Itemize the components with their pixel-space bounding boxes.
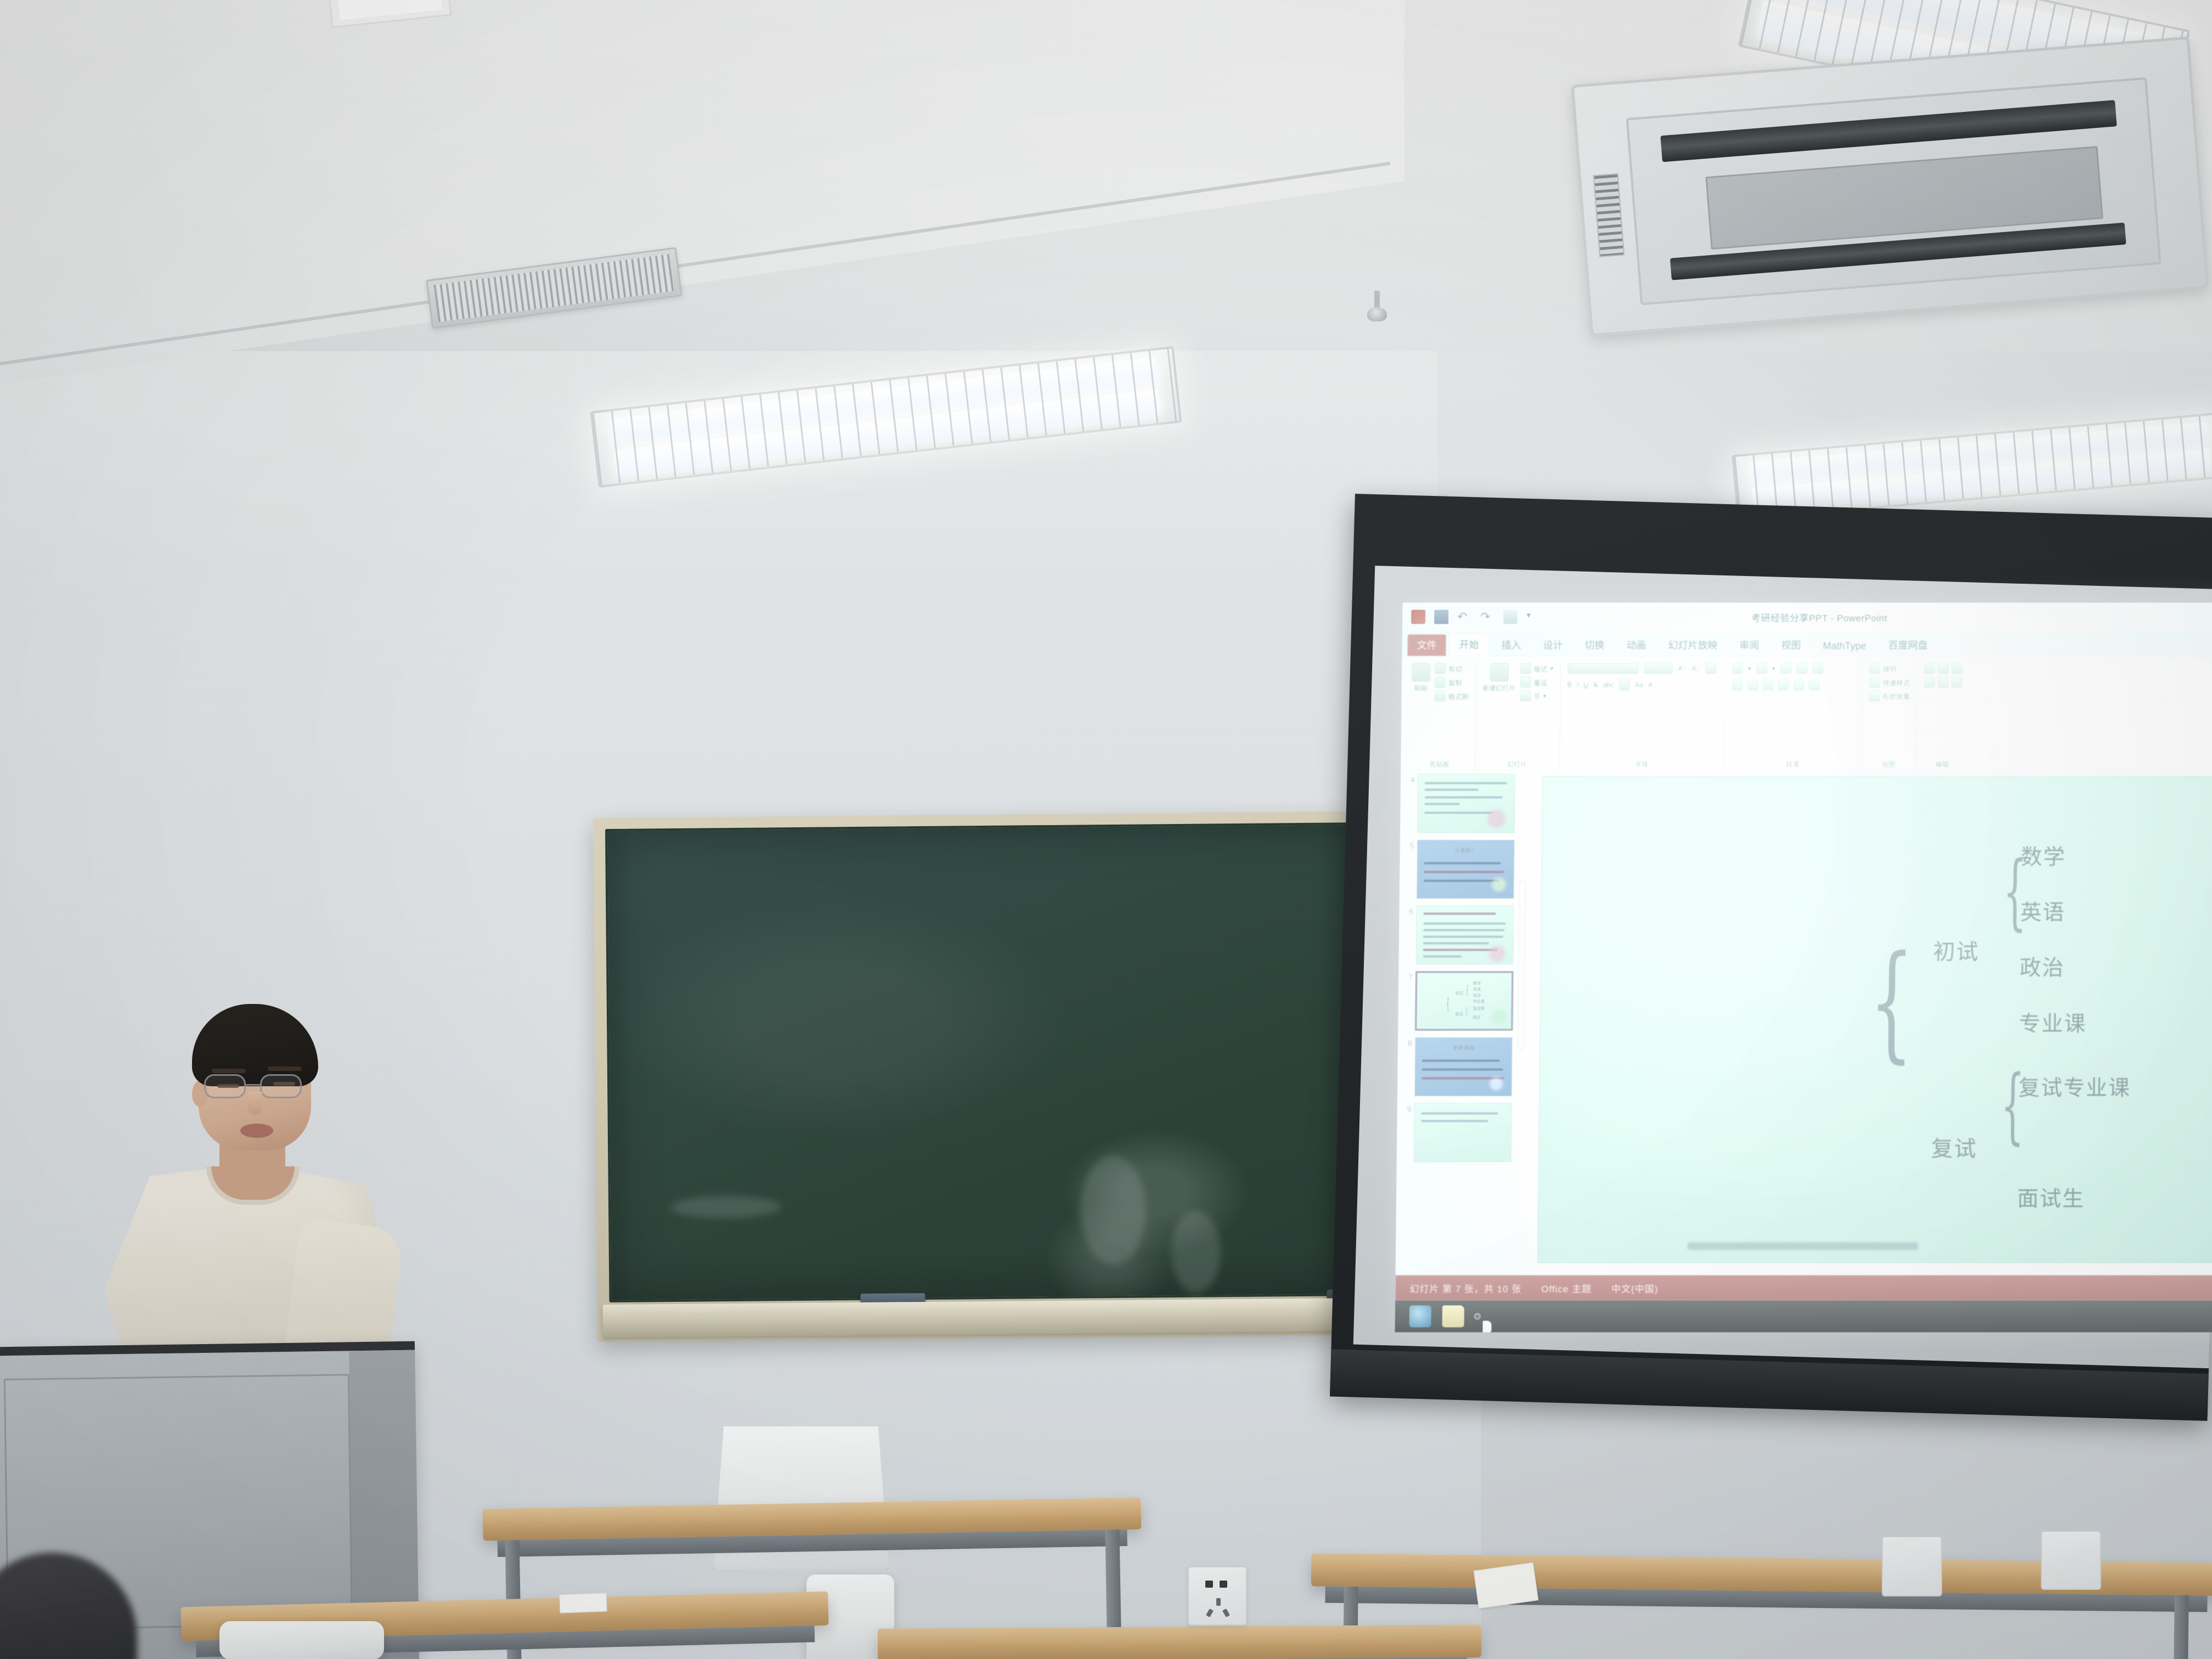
slide-editing-pane[interactable]: { 初试 { 数学 英语 政治 专业课 复试 { 复试专业课: [1522, 770, 2212, 1286]
shape-gallery-row[interactable]: [1924, 663, 1962, 674]
ribbon-tab-strip[interactable]: 文件 开始 插入 设计 切换 动画 幻灯片放映 审阅 视图 MathType 百…: [1402, 631, 2212, 656]
thumbnail-row[interactable]: 6: [1402, 905, 1525, 964]
scissors-icon: [1435, 663, 1446, 674]
thumbnail-row[interactable]: 4: [1403, 774, 1526, 833]
tab-review[interactable]: 审阅: [1730, 634, 1769, 656]
slide-thumbnail[interactable]: 大家好！: [1417, 839, 1515, 899]
branch-label-primary: 初试: [1933, 934, 1979, 966]
decrease-font-size-icon[interactable]: A↓: [1691, 664, 1700, 672]
ribbon-group-font: A↑ A↓ B I U S abc Aa A: [1560, 661, 1725, 770]
reset-icon: [1520, 676, 1531, 687]
slide-thumbnail-panel[interactable]: 4 5 大家好！: [1395, 770, 1528, 1286]
language-label: 中文(中国): [1611, 1281, 1658, 1295]
increase-indent-icon[interactable]: [1796, 663, 1807, 674]
slide-indicator: 幻灯片 第 7 张，共 10 张: [1409, 1281, 1521, 1295]
thumbnail-number: 5: [1403, 839, 1414, 850]
thumbnail-number: 8: [1401, 1037, 1412, 1047]
thumbnail-title: 考研流程: [1415, 1044, 1512, 1051]
paste-icon: [1412, 663, 1430, 681]
tab-design[interactable]: 设计: [1533, 634, 1572, 656]
arrow-shape-icon[interactable]: [1924, 676, 1935, 687]
leaf-interview: 面试生: [2017, 1182, 2085, 1213]
chalk-smudge: [1080, 1155, 1147, 1265]
ribbon-group-editing: 编辑: [1916, 661, 1969, 770]
outlet-pin: [1216, 1598, 1221, 1606]
group-label-paragraph: 段落: [1724, 759, 1861, 769]
chalk-smudge: [671, 1195, 781, 1218]
presenter-eyebrow: [212, 1069, 246, 1073]
star-shape-icon[interactable]: [1938, 676, 1949, 687]
section-icon: [1520, 690, 1531, 701]
slide-canvas[interactable]: { 初试 { 数学 英语 政治 专业课 复试 { 复试专业课: [1537, 776, 2212, 1263]
presenter-eyebrow: [268, 1066, 302, 1071]
slide-thumbnail[interactable]: 考研流程: [1414, 1037, 1513, 1096]
student-desk: [878, 1624, 1481, 1659]
font-color-button[interactable]: A: [1648, 681, 1652, 689]
triangle-shape-icon[interactable]: [1938, 663, 1949, 674]
tab-view[interactable]: 视图: [1772, 634, 1810, 656]
columns-icon[interactable]: [1793, 679, 1804, 690]
thumbnail-row[interactable]: 5 大家好！: [1403, 839, 1525, 899]
ribbon-group-paragraph: ▾ ▾: [1724, 661, 1863, 770]
leaf-politics: 政治: [2019, 951, 2065, 982]
leaf-english: 英语: [2020, 895, 2066, 926]
projected-powerpoint-window[interactable]: ↶ ↷ ▾ 考研经验分享PPT - PowerPoint 文件 开始 插入 设计…: [1395, 602, 2212, 1332]
shape-effects-icon: [1869, 690, 1880, 701]
new-slide-icon: [1490, 663, 1509, 681]
cut-button[interactable]: 剪切: [1435, 663, 1469, 674]
text-shadow-button[interactable]: abc: [1603, 681, 1614, 689]
font-size-combo[interactable]: [1644, 663, 1673, 674]
ribbon[interactable]: 粘贴 剪切 复制 格式刷 剪贴板 新建幻灯片: [1401, 656, 2212, 770]
shape-gallery-row[interactable]: [1924, 676, 1962, 687]
presenter-mouth: [240, 1124, 273, 1138]
wall-power-outlet[interactable]: [1882, 1536, 1942, 1596]
group-label-clipboard: 剪贴板: [1404, 759, 1475, 769]
glasses-lens: [260, 1074, 302, 1098]
sprinkler-nozzle: [1367, 307, 1387, 321]
new-slide-label: 新建幻灯片: [1482, 683, 1515, 692]
wall-power-outlet[interactable]: [1188, 1566, 1247, 1626]
group-label-drawing: 绘图: [1861, 759, 1916, 769]
justify-icon[interactable]: [1778, 679, 1788, 690]
tab-insert[interactable]: 插入: [1492, 634, 1530, 656]
desk-leg: [2173, 1595, 2189, 1659]
format-painter-button[interactable]: 格式刷: [1435, 690, 1469, 701]
glasses-lens: [204, 1074, 246, 1098]
ribbon-group-clipboard: 粘贴 剪切 复制 格式刷 剪贴板: [1404, 661, 1476, 770]
underline-button[interactable]: U: [1583, 681, 1588, 689]
reset-button[interactable]: 重设: [1520, 676, 1553, 687]
window-title: 考研经验分享PPT - PowerPoint: [1402, 610, 2212, 624]
thumbnail-number: 6: [1403, 905, 1414, 916]
copy-button[interactable]: 复制: [1435, 676, 1469, 687]
tab-mathtype[interactable]: MathType: [1814, 637, 1876, 656]
rectangle-shape-icon[interactable]: [1924, 663, 1935, 674]
align-center-icon[interactable]: [1747, 679, 1758, 690]
new-slide-button[interactable]: 新建幻灯片: [1482, 663, 1516, 692]
powerpoint-taskbar-item[interactable]: [1475, 1314, 1480, 1318]
ribbon-group-slides: 新建幻灯片 版式▾ 重设 节▾ 幻灯片: [1475, 661, 1561, 770]
group-label-font: 字体: [1560, 759, 1724, 769]
bracket-tree-diagram[interactable]: { 初试 { 数学 英语 政治 专业课 复试 { 复试专业课: [1870, 806, 2212, 1234]
bullets-icon[interactable]: [1732, 663, 1743, 674]
shape-effects-button[interactable]: 形状效果: [1869, 690, 1910, 701]
group-label-editing: 编辑: [1916, 759, 1968, 769]
chevron-down-icon: ▾: [1543, 692, 1547, 699]
line-shape-icon[interactable]: [1951, 663, 1962, 674]
outlet-pin: [1206, 1609, 1214, 1617]
ac-side-vent: [1593, 173, 1625, 257]
branch-label-secondary: 复试: [1931, 1131, 1978, 1163]
slide-thumbnail[interactable]: [1416, 905, 1514, 964]
notes-placeholder[interactable]: [1688, 1242, 1918, 1250]
bold-button[interactable]: B: [1567, 681, 1571, 689]
italic-button[interactable]: I: [1577, 681, 1579, 689]
layout-icon: [1520, 663, 1531, 674]
chevron-down-icon: ▾: [1772, 664, 1775, 672]
presenter-nose: [248, 1092, 262, 1115]
thumbnail-number: 7: [1402, 971, 1413, 981]
chalk-tray: [603, 1298, 1378, 1338]
callout-shape-icon[interactable]: [1951, 676, 1962, 687]
sprinkler-stem: [1374, 291, 1380, 309]
tab-transitions[interactable]: 切换: [1575, 634, 1613, 656]
layout-button[interactable]: 版式▾: [1520, 663, 1554, 674]
file-explorer-icon[interactable]: [1442, 1305, 1464, 1327]
leaf-retest-major: 复试专业课: [2018, 1071, 2131, 1102]
thumbnail-number: 9: [1401, 1103, 1412, 1113]
blackboard-surface: [605, 822, 1370, 1302]
format-painter-icon: [1435, 690, 1446, 701]
leaf-major-course: 专业课: [2019, 1007, 2087, 1037]
wall-power-outlet[interactable]: [2041, 1531, 2101, 1590]
thumbnail-title: 大家好！: [1418, 847, 1514, 854]
change-case-button[interactable]: Aa: [1635, 681, 1643, 689]
slide-thumbnail[interactable]: [1414, 1103, 1512, 1162]
align-left-icon[interactable]: [1731, 679, 1742, 690]
group-label-slides: 幻灯片: [1475, 759, 1559, 769]
tab-baidu-netdisk[interactable]: 百度网盘: [1879, 634, 1937, 656]
powerpoint-title-bar: ↶ ↷ ▾ 考研经验分享PPT - PowerPoint: [1402, 602, 2212, 631]
ac-inner-panel: [1626, 77, 2161, 306]
fire-sprinkler-head: [1366, 291, 1388, 329]
paper-sheet[interactable]: [559, 1593, 607, 1613]
thumbnail-row-selected[interactable]: 7 { 初试 { 数学 英语 政治 专业课 复试 {: [1401, 971, 1523, 1030]
copy-icon: [1435, 676, 1446, 687]
internet-explorer-icon[interactable]: [1409, 1305, 1431, 1327]
root-brace-icon: {: [1880, 857, 1904, 1148]
presenter: [110, 1004, 395, 1377]
outlet-slot: [1220, 1581, 1227, 1588]
tab-slideshow[interactable]: 幻灯片放映: [1659, 634, 1727, 656]
paste-label: 粘贴: [1414, 683, 1427, 692]
leaf-math: 数学: [2021, 840, 2066, 871]
blackboard: [593, 811, 1382, 1342]
slide-thumbnail[interactable]: [1417, 774, 1515, 833]
text-direction-icon[interactable]: [1808, 679, 1819, 690]
outlet-pin: [1222, 1609, 1230, 1617]
numbering-icon[interactable]: [1756, 663, 1767, 674]
tab-animations[interactable]: 动画: [1617, 634, 1655, 656]
section-button[interactable]: 节▾: [1520, 690, 1553, 701]
glasses-bridge: [246, 1084, 260, 1086]
paste-button[interactable]: 粘贴: [1412, 663, 1431, 692]
thumbnail-scrollbar[interactable]: [1517, 880, 1526, 1050]
quick-styles-icon: [1869, 676, 1880, 687]
outlet-slot: [1205, 1581, 1213, 1588]
slide-thumbnail-active[interactable]: { 初试 { 数学 英语 政治 专业课 复试 { 复试课 面试: [1415, 971, 1513, 1030]
thumbnail-row[interactable]: 8 考研流程: [1401, 1037, 1523, 1096]
clear-formatting-icon[interactable]: [1705, 663, 1716, 674]
air-conditioner-unit: [1571, 36, 2209, 336]
chevron-down-icon: ▾: [1550, 664, 1554, 672]
projection-screen: ↶ ↷ ▾ 考研经验分享PPT - PowerPoint 文件 开始 插入 设计…: [1329, 494, 2211, 1439]
chevron-down-icon: ▾: [1748, 664, 1751, 672]
thumbnail-row[interactable]: 9: [1400, 1103, 1522, 1162]
windows-taskbar[interactable]: [1395, 1300, 2212, 1332]
classroom-chair[interactable]: [219, 1621, 384, 1659]
increase-font-size-icon[interactable]: A↑: [1678, 664, 1686, 672]
character-spacing-icon[interactable]: [1619, 679, 1630, 690]
strikethrough-button[interactable]: S: [1593, 681, 1598, 689]
powerpoint-workspace: 4 5 大家好！: [1395, 770, 2212, 1286]
quick-styles-button[interactable]: 快速样式: [1869, 676, 1910, 687]
tab-file[interactable]: 文件: [1407, 634, 1446, 656]
decrease-indent-icon[interactable]: [1780, 663, 1791, 674]
arrange-icon: [1869, 663, 1880, 674]
tab-home[interactable]: 开始: [1449, 633, 1488, 656]
arrange-button[interactable]: 排列: [1869, 663, 1910, 674]
chalk-smudge: [1171, 1210, 1221, 1293]
classroom-photo-scene: ↶ ↷ ▾ 考研经验分享PPT - PowerPoint 文件 开始 插入 设计…: [0, 0, 2212, 1659]
ribbon-group-smartart: 排列 快速样式 形状效果 绘图: [1861, 661, 1917, 770]
thumbnail-number: 4: [1404, 774, 1415, 784]
line-spacing-icon[interactable]: [1812, 663, 1823, 674]
font-family-combo[interactable]: [1567, 663, 1639, 674]
theme-label: Office 主题: [1541, 1281, 1592, 1295]
align-right-icon[interactable]: [1762, 679, 1773, 690]
powerpoint-status-bar: 幻灯片 第 7 张，共 10 张 Office 主题 中文(中国): [1395, 1275, 2212, 1300]
